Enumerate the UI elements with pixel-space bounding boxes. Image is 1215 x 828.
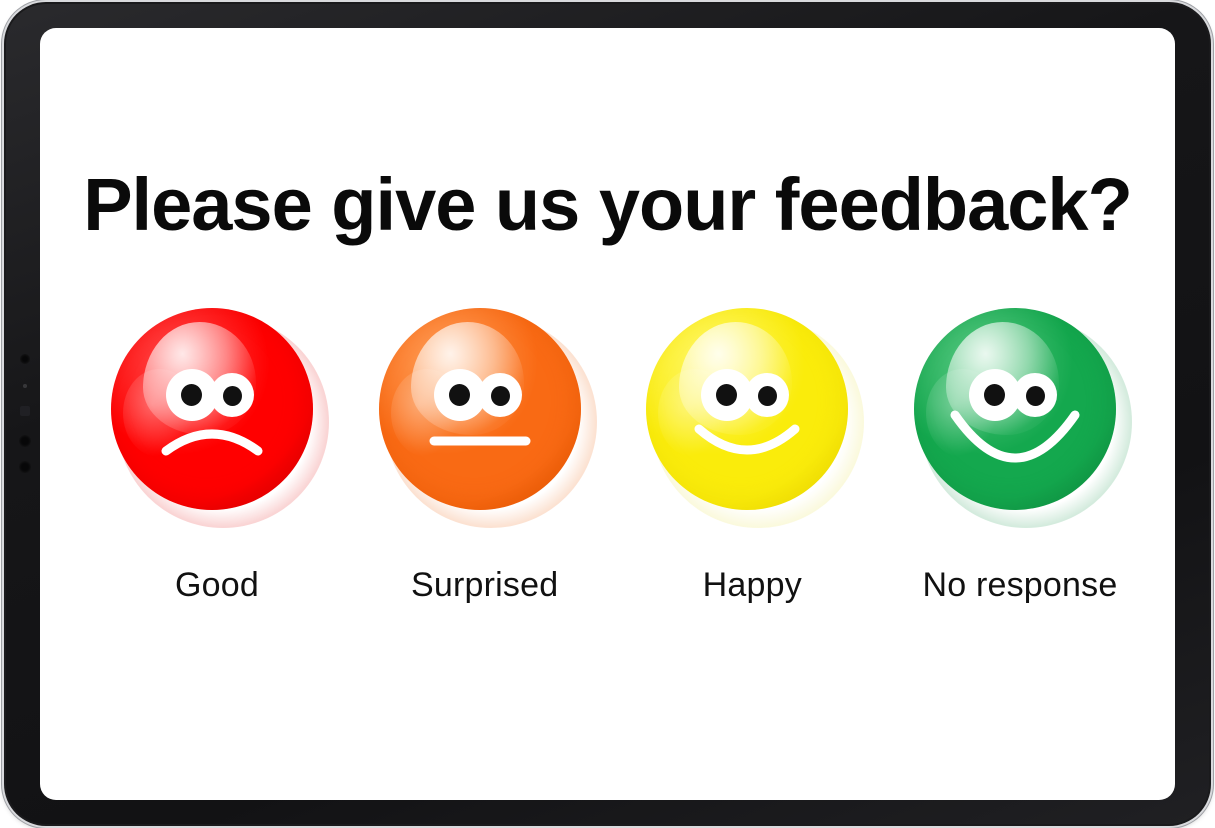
feedback-option-label: No response [922, 566, 1117, 605]
feedback-option-happy[interactable]: Happy [627, 308, 877, 605]
pupil-right [491, 386, 510, 406]
feedback-option-label: Happy [703, 566, 802, 605]
face-eyes [434, 369, 526, 423]
feedback-option-label: Good [175, 566, 259, 605]
big-smiling-face-icon[interactable] [914, 308, 1126, 520]
page-title: Please give us your feedback? [40, 168, 1175, 242]
feedback-option-no-response[interactable]: No response [895, 308, 1145, 605]
sensor-dot-icon [19, 461, 31, 473]
mouth-frown [160, 419, 264, 457]
pupil-left [716, 384, 737, 406]
neutral-face-icon[interactable] [379, 308, 591, 520]
mouth-smile [692, 421, 802, 465]
face-circle [111, 308, 313, 510]
speaker-grille-icon [20, 406, 30, 416]
front-camera-icon [20, 354, 30, 364]
sensor-dot-icon [19, 435, 31, 447]
face-circle [379, 308, 581, 510]
face-circle [914, 308, 1116, 510]
pupil-right [758, 386, 777, 406]
smiling-face-icon[interactable] [646, 308, 858, 520]
feedback-option-good[interactable]: Good [92, 308, 342, 605]
pupil-right [1026, 386, 1045, 406]
feedback-options-row: Good [92, 308, 1145, 605]
face-circle [646, 308, 848, 510]
pupil-left [181, 384, 202, 406]
light-sensor-icon [23, 384, 27, 388]
face-eyes [166, 369, 258, 423]
mouth-neutral [428, 433, 532, 449]
pupil-right [223, 386, 242, 406]
face-eyes [701, 369, 793, 423]
sad-face-icon[interactable] [111, 308, 323, 520]
feedback-page: Please give us your feedback? [40, 28, 1175, 800]
mouth-big-smile [948, 409, 1082, 483]
tablet-device-frame: Please give us your feedback? [4, 2, 1211, 826]
feedback-option-label: Surprised [411, 566, 558, 605]
pupil-left [449, 384, 470, 406]
tablet-screen: Please give us your feedback? [40, 28, 1175, 800]
pupil-left [984, 384, 1005, 406]
feedback-option-surprised[interactable]: Surprised [360, 308, 610, 605]
